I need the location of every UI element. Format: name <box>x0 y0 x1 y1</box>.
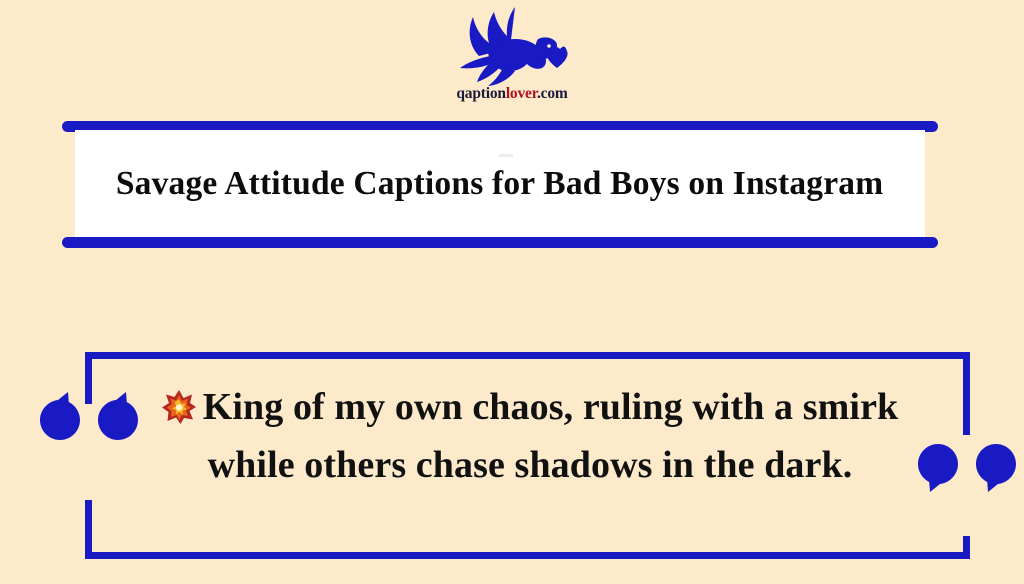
close-quote-marks <box>916 440 1018 492</box>
frame-left-lower-edge <box>85 500 92 559</box>
quote-card: King of my own chaos, ruling with a smir… <box>0 330 1024 569</box>
frame-bottom-edge <box>85 552 970 559</box>
title-plate: Savage Attitude Captions for Bad Boys on… <box>75 130 925 240</box>
brand-header: qaptionlover.com <box>0 0 1024 118</box>
open-quote-marks <box>38 392 140 444</box>
banner-bottom-rule <box>62 237 938 248</box>
wordmark-part-two: lover <box>506 85 537 102</box>
right-double-quotation-mark-icon <box>916 440 960 492</box>
left-double-quotation-mark-icon <box>96 392 140 444</box>
brand-wordmark: qaptionlover.com <box>456 86 567 102</box>
wordmark-part-three: .com <box>537 85 568 102</box>
plate-artifact <box>499 154 513 157</box>
frame-right-upper-edge <box>963 352 970 435</box>
page-title: Savage Attitude Captions for Bad Boys on… <box>116 165 883 204</box>
left-double-quotation-mark-icon <box>38 392 82 444</box>
frame-right-lower-edge <box>963 536 970 559</box>
right-double-quotation-mark-icon <box>974 440 1018 492</box>
quote-line-3: dark. <box>764 444 852 486</box>
quote-text: King of my own chaos, ruling with a smir… <box>140 378 920 494</box>
collision-boom-emoji <box>162 390 196 424</box>
title-banner: Savage Attitude Captions for Bad Boys on… <box>62 121 938 248</box>
quote-line-1: King of my own chaos, ruling with a <box>203 386 793 428</box>
wordmark-part-one: qaption <box>456 85 505 102</box>
frame-top-edge <box>85 352 970 359</box>
dove-with-heart-icon <box>452 4 572 88</box>
